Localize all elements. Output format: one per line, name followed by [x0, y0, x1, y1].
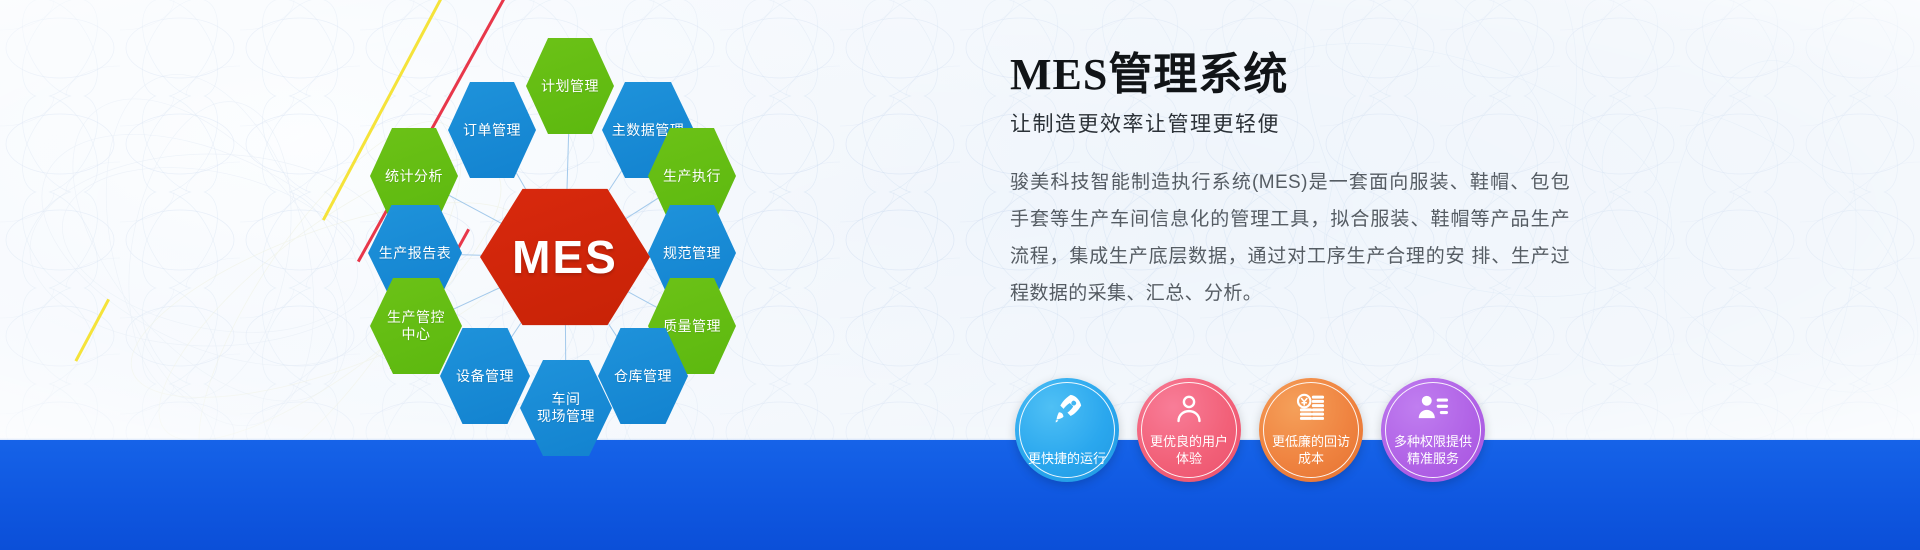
coins-icon — [1294, 392, 1328, 426]
mes-promo-banner: MES 计划管理订单管理主数据管理统计分析生产执行生产报告表规范管理生产管控 中… — [0, 0, 1920, 550]
feature-circle-label-line1: 多种权限提供 — [1386, 433, 1480, 451]
diagram-core-node: MES — [480, 186, 650, 328]
accent-line-yellow-2 — [74, 299, 110, 362]
diagram-node-1[interactable]: 计划管理 — [526, 36, 614, 136]
feature-circle-label-line2: 成本 — [1290, 450, 1332, 468]
diagram-node-2[interactable]: 订单管理 — [448, 80, 536, 180]
diagram-node-label: 生产执行 — [663, 168, 721, 185]
diagram-node-label: 设备管理 — [456, 368, 514, 385]
feature-circle-1[interactable]: 更快捷的运行 — [1015, 378, 1119, 482]
user-list-icon — [1416, 392, 1450, 426]
feature-circle-label-line1: 更快捷的运行 — [1020, 450, 1114, 468]
diagram-node-label: 仓库管理 — [614, 368, 672, 385]
diagram-core-label: MES — [512, 230, 618, 284]
diagram-node-label: 统计分析 — [385, 168, 443, 185]
feature-circle-4[interactable]: 多种权限提供精准服务 — [1381, 378, 1485, 482]
diagram-node-label: 订单管理 — [463, 122, 521, 139]
feature-circle-label-line2: 体验 — [1168, 450, 1210, 468]
mes-module-diagram: MES 计划管理订单管理主数据管理统计分析生产执行生产报告表规范管理生产管控 中… — [330, 18, 800, 448]
feature-circle-label-line2: 精准服务 — [1399, 450, 1467, 468]
feature-circle-label-line1: 更优良的用户 — [1142, 433, 1236, 451]
feature-circle-2[interactable]: 更优良的用户体验 — [1137, 378, 1241, 482]
page-subtitle: 让制造更效率让管理更轻便 — [1010, 108, 1610, 138]
diagram-node-label: 质量管理 — [663, 318, 721, 335]
diagram-node-label: 计划管理 — [541, 78, 599, 95]
diagram-node-label: 规范管理 — [663, 245, 721, 262]
feature-circle-label-line1: 更低廉的回访 — [1264, 433, 1358, 451]
user-icon — [1172, 392, 1206, 426]
rocket-icon — [1050, 392, 1084, 426]
page-title: MES管理系统 — [1010, 52, 1610, 98]
hero-text-block: MES管理系统 让制造更效率让管理更轻便 骏美科技智能制造执行系统(MES)是一… — [1010, 52, 1610, 312]
feature-circle-3[interactable]: 更低廉的回访成本 — [1259, 378, 1363, 482]
diagram-node-label: 车间 现场管理 — [537, 391, 595, 424]
hero-description: 骏美科技智能制造执行系统(MES)是一套面向服装、鞋帽、包包手套等生产车间信息化… — [1010, 164, 1570, 312]
bottom-blue-band — [0, 440, 1920, 550]
diagram-node-label: 生产管控 中心 — [387, 309, 445, 342]
diagram-node-label: 生产报告表 — [379, 245, 452, 262]
feature-circle-list: 更快捷的运行更优良的用户体验更低廉的回访成本多种权限提供精准服务 — [1015, 378, 1485, 482]
